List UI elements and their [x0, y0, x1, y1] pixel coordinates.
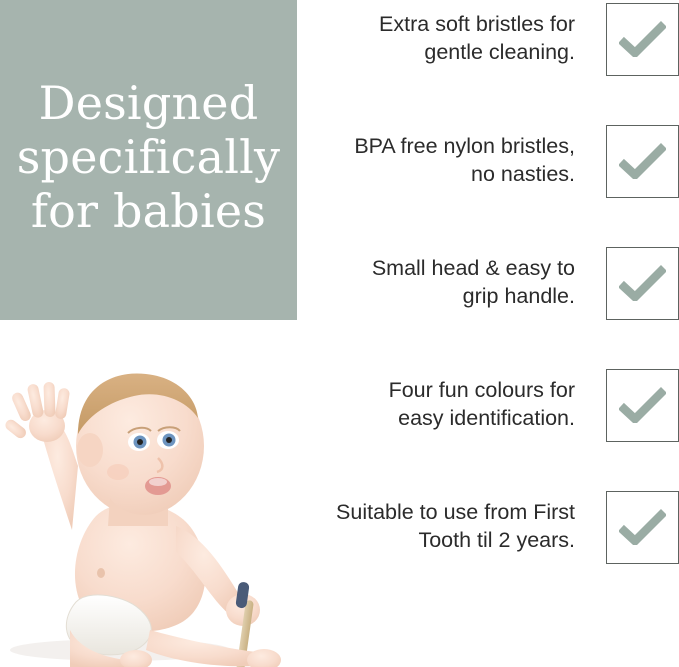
baby-illustration: [0, 330, 310, 667]
baby-cheek: [107, 464, 129, 480]
feature-row: Suitable to use from First Tooth til 2 y…: [305, 490, 679, 564]
feature-text: Four fun colours for easy identification…: [305, 377, 606, 432]
check-icon: [619, 265, 666, 301]
feature-checkbox[interactable]: [606, 3, 679, 76]
product-feature-infographic: Designed specifically for babies: [0, 0, 679, 667]
feature-row: Small head & easy to grip handle.: [305, 246, 679, 320]
check-icon: [619, 387, 666, 423]
feature-checkbox[interactable]: [606, 491, 679, 564]
baby-teeth: [149, 478, 167, 486]
feature-text: Small head & easy to grip handle.: [305, 255, 606, 310]
check-icon: [619, 509, 666, 545]
feature-text: Extra soft bristles for gentle cleaning.: [305, 11, 606, 66]
feature-checkbox[interactable]: [606, 369, 679, 442]
baby-photo: [0, 330, 310, 667]
feature-checkbox[interactable]: [606, 125, 679, 198]
check-icon: [619, 143, 666, 179]
feature-row: Four fun colours for easy identification…: [305, 368, 679, 442]
baby-ear: [77, 433, 103, 467]
feature-list: Extra soft bristles for gentle cleaning.…: [305, 0, 679, 667]
feature-text: BPA free nylon bristles, no nasties.: [305, 133, 606, 188]
feature-text: Suitable to use from First Tooth til 2 y…: [305, 499, 606, 554]
hero-panel: Designed specifically for babies: [0, 0, 297, 320]
feature-row: Extra soft bristles for gentle cleaning.: [305, 2, 679, 76]
feature-checkbox[interactable]: [606, 247, 679, 320]
baby-navel: [97, 568, 105, 578]
feature-row: BPA free nylon bristles, no nasties.: [305, 124, 679, 198]
check-icon: [619, 21, 666, 57]
hero-title: Designed specifically for babies: [7, 77, 291, 242]
